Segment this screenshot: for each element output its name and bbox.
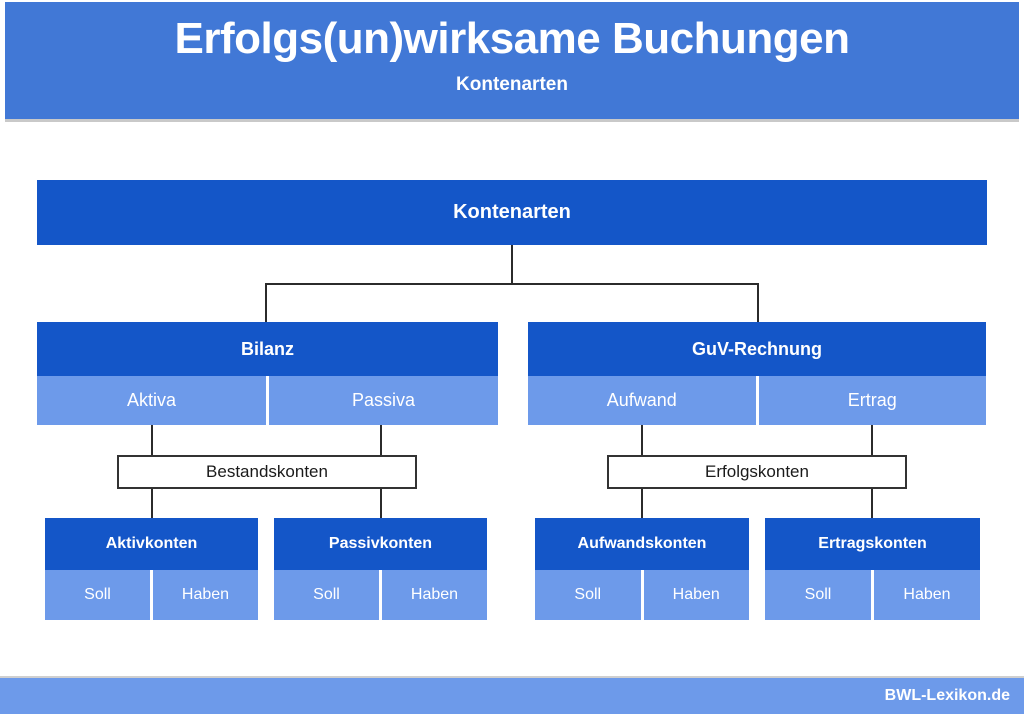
cell-aktivkonten-haben[interactable]: Haben	[150, 570, 258, 620]
node-ertragskonten-label: Ertragskonten	[765, 518, 980, 570]
connector-aufwand-down	[641, 425, 643, 455]
cell-passiva[interactable]: Passiva	[266, 376, 498, 425]
connector-passiva-down	[380, 425, 382, 455]
footer-bar: BWL-Lexikon.de	[0, 676, 1024, 714]
node-ertragskonten[interactable]: Ertragskonten Soll Haben	[765, 518, 980, 620]
connector-to-guv	[757, 283, 759, 322]
node-aktivkonten[interactable]: Aktivkonten Soll Haben	[45, 518, 258, 620]
cell-ertrag[interactable]: Ertrag	[756, 376, 987, 425]
cell-aktiva[interactable]: Aktiva	[37, 376, 266, 425]
node-bestandskonten[interactable]: Bestandskonten	[117, 455, 417, 489]
node-aufwandskonten-cells: Soll Haben	[535, 570, 749, 620]
node-kontenarten-label: Kontenarten	[37, 180, 987, 245]
cell-ertragskonten-soll[interactable]: Soll	[765, 570, 871, 620]
node-passivkonten[interactable]: Passivkonten Soll Haben	[274, 518, 487, 620]
node-bilanz-cells: Aktiva Passiva	[37, 376, 498, 425]
node-aktivkonten-label: Aktivkonten	[45, 518, 258, 570]
cell-aufwandskonten-soll[interactable]: Soll	[535, 570, 641, 620]
cell-passivkonten-haben[interactable]: Haben	[379, 570, 487, 620]
cell-passivkonten-soll[interactable]: Soll	[274, 570, 379, 620]
connector-bestandskonten-to-passivkonten	[380, 489, 382, 518]
node-guv-rechnung[interactable]: GuV-Rechnung Aufwand Ertrag	[528, 322, 986, 425]
node-bilanz-label: Bilanz	[37, 322, 498, 376]
footer-brand-label: BWL-Lexikon.de	[885, 687, 1010, 705]
connector-bestandskonten-to-aktivkonten	[151, 489, 153, 518]
node-kontenarten[interactable]: Kontenarten	[37, 180, 987, 245]
connector-ertrag-down	[871, 425, 873, 455]
node-passivkonten-label: Passivkonten	[274, 518, 487, 570]
connector-aktiva-down	[151, 425, 153, 455]
diagram-canvas: Kontenarten Bilanz Aktiva Passiva GuV-Re…	[0, 0, 1024, 714]
connector-root-bar	[265, 283, 759, 285]
node-erfolgskonten[interactable]: Erfolgskonten	[607, 455, 907, 489]
cell-aktivkonten-soll[interactable]: Soll	[45, 570, 150, 620]
cell-ertragskonten-haben[interactable]: Haben	[871, 570, 980, 620]
node-ertragskonten-cells: Soll Haben	[765, 570, 980, 620]
node-aufwandskonten[interactable]: Aufwandskonten Soll Haben	[535, 518, 749, 620]
connector-erfolgskonten-to-aufwandskonten	[641, 489, 643, 518]
connector-to-bilanz	[265, 283, 267, 322]
node-guv-rechnung-label: GuV-Rechnung	[528, 322, 986, 376]
node-passivkonten-cells: Soll Haben	[274, 570, 487, 620]
node-guv-rechnung-cells: Aufwand Ertrag	[528, 376, 986, 425]
cell-aufwandskonten-haben[interactable]: Haben	[641, 570, 750, 620]
node-bilanz[interactable]: Bilanz Aktiva Passiva	[37, 322, 498, 425]
connector-root-stem	[511, 245, 513, 283]
node-aufwandskonten-label: Aufwandskonten	[535, 518, 749, 570]
connector-erfolgskonten-to-ertragskonten	[871, 489, 873, 518]
node-aktivkonten-cells: Soll Haben	[45, 570, 258, 620]
cell-aufwand[interactable]: Aufwand	[528, 376, 756, 425]
